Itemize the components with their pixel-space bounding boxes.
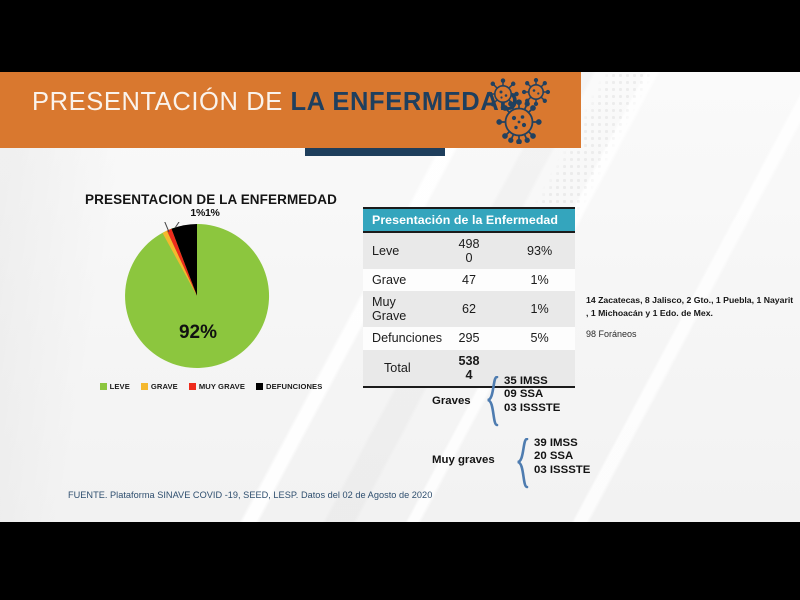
legend-label: MUY GRAVE <box>199 382 245 391</box>
bracket-items: 35 IMSS 09 SSA 03 ISSSTE <box>504 375 560 415</box>
legend-swatch-leve <box>100 383 107 390</box>
total-label: Total <box>363 350 434 387</box>
pie-chart <box>123 222 271 370</box>
bracket-icon <box>485 376 499 428</box>
row-label: Muy Grave <box>363 291 434 327</box>
row-label: Defunciones <box>363 327 434 349</box>
row-percent: 1% <box>504 291 575 327</box>
legend-label: DEFUNCIONES <box>266 382 322 391</box>
row-label: Leve <box>363 232 434 269</box>
legend-label: GRAVE <box>151 382 178 391</box>
table-header-row: Presentación de la Enfermedad <box>363 208 575 232</box>
table-row: Leve 4980 93% <box>363 232 575 269</box>
bracket-item: 20 SSA <box>534 450 590 463</box>
row-percent: 93% <box>504 232 575 269</box>
chart-legend: LEVE GRAVE MUY GRAVE DEFUNCIONES <box>66 382 356 391</box>
legend-label: LEVE <box>110 382 130 391</box>
bracket-label: Graves <box>432 395 471 407</box>
row-value: 62 <box>434 291 505 327</box>
row-label: Grave <box>363 269 434 291</box>
page-title-light: PRESENTACIÓN DE <box>32 88 291 116</box>
bracket-item: 35 IMSS <box>504 375 560 388</box>
note-foraneos: 98 Foráneos <box>586 329 637 339</box>
bracket-group-graves: Graves 35 IMSS 09 SSA 03 ISSSTE <box>432 382 612 426</box>
legend-item: LEVE <box>100 382 130 391</box>
legend-swatch-defunciones <box>256 383 263 390</box>
legend-swatch-muy-grave <box>189 383 196 390</box>
page-title: PRESENTACIÓN DE LA ENFERMEDAD <box>32 88 518 117</box>
legend-item: DEFUNCIONES <box>256 382 322 391</box>
source-footnote: FUENTE. Plataforma SINAVE COVID -19, SEE… <box>68 490 432 500</box>
table-header-title: Presentación de la Enfermedad <box>363 208 575 232</box>
pie-slice-leve <box>125 224 269 368</box>
legend-item: MUY GRAVE <box>189 382 245 391</box>
slide-canvas: PRESENTACIÓN DE LA ENFERMEDAD <box>0 72 800 522</box>
screenshot-root: PRESENTACIÓN DE LA ENFERMEDAD <box>0 0 800 600</box>
coronavirus-icon <box>483 78 555 144</box>
row-value: 295 <box>434 327 505 349</box>
bracket-label: Muy graves <box>432 454 495 466</box>
note-state-breakdown: 14 Zacatecas, 8 Jalisco, 2 Gto., 1 Puebl… <box>586 294 794 319</box>
row-percent: 5% <box>504 327 575 349</box>
header-accent-rule <box>305 148 445 156</box>
bracket-item: 09 SSA <box>504 388 560 401</box>
row-value: 4980 <box>434 232 505 269</box>
pie-label-leve: 92% <box>158 322 238 344</box>
disease-presentation-table: Presentación de la Enfermedad Leve 4980 … <box>363 207 575 388</box>
row-value: 47 <box>434 269 505 291</box>
bracket-item: 03 ISSSTE <box>504 402 560 415</box>
bracket-icon <box>515 438 529 490</box>
pie-label-small-slices: 1%1% <box>150 207 260 219</box>
row-percent: 1% <box>504 269 575 291</box>
header-band: PRESENTACIÓN DE LA ENFERMEDAD <box>0 72 581 148</box>
table-row: Grave 47 1% <box>363 269 575 291</box>
table-row: Defunciones 295 5% <box>363 327 575 349</box>
bracket-item: 03 ISSSTE <box>534 464 590 477</box>
legend-item: GRAVE <box>141 382 178 391</box>
bracket-items: 39 IMSS 20 SSA 03 ISSSTE <box>534 437 590 477</box>
table-row: Muy Grave 62 1% <box>363 291 575 327</box>
legend-swatch-grave <box>141 383 148 390</box>
chart-title: PRESENTACION DE LA ENFERMEDAD <box>66 192 356 207</box>
bracket-group-muy-graves: Muy graves 39 IMSS 20 SSA 03 ISSSTE <box>432 440 612 484</box>
bracket-item: 39 IMSS <box>534 437 590 450</box>
